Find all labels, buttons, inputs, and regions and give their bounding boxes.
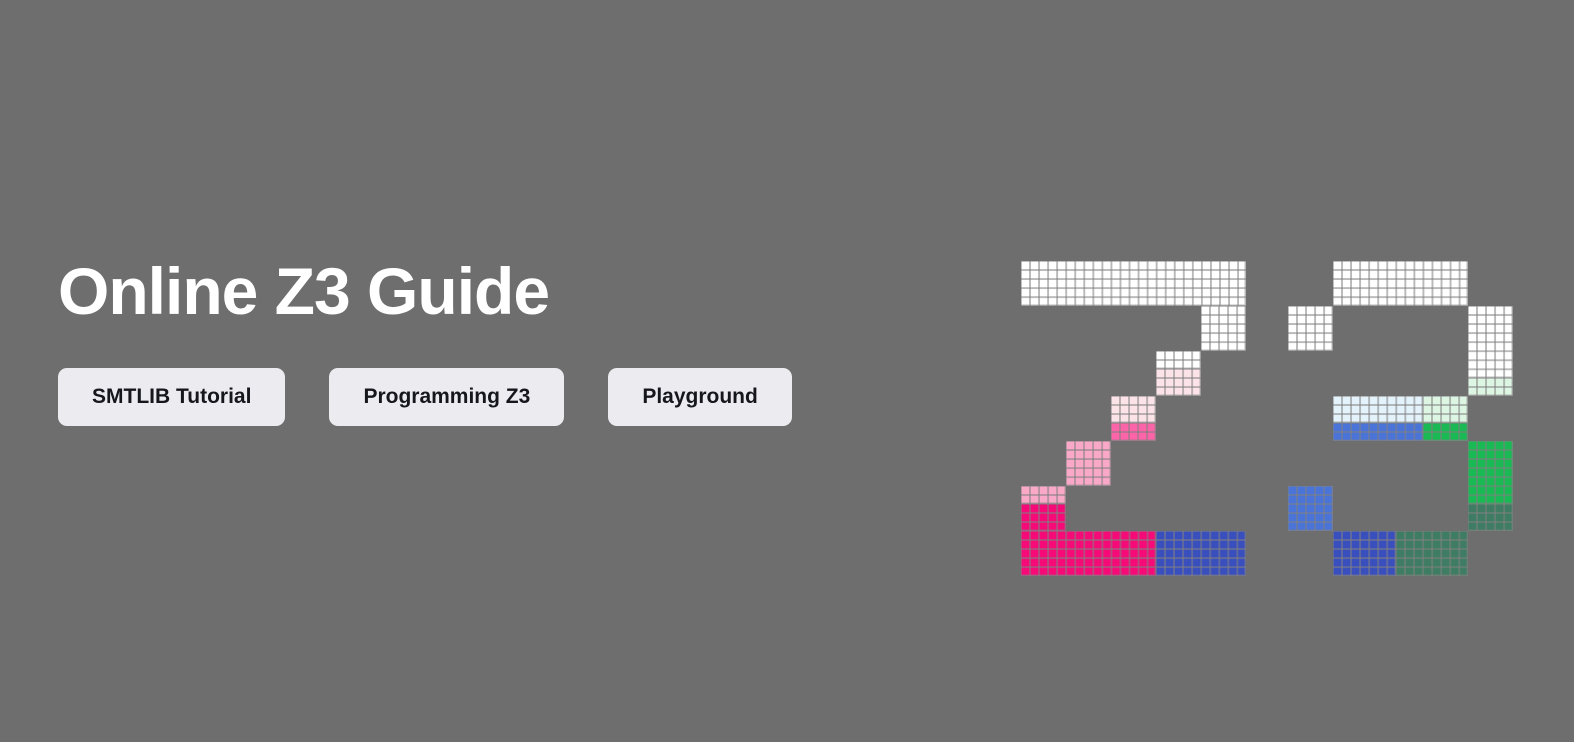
logo-pixel-block [1468,306,1513,378]
logo-pixel-block [1333,261,1468,306]
logo-pixel-block [1021,261,1246,306]
logo-pixel-block [1396,531,1468,576]
nav-button-group: SMTLIB Tutorial Programming Z3 Playgroun… [58,368,958,426]
logo-pixel-block [1288,306,1333,351]
logo-pixel-block [1021,504,1066,531]
logo-pixel-block [1333,396,1423,423]
logo-pixel-block [1423,396,1468,423]
logo-pixel-block [1021,531,1156,576]
logo-pixel-block [1111,396,1156,423]
logo-pixel-block [1468,378,1513,396]
z3-pixel-logo [1021,261,1521,583]
logo-pixel-block [1288,486,1333,531]
logo-pixel-block [1156,369,1201,396]
logo-pixel-block [1156,531,1246,576]
logo-pixel-block [1111,423,1156,441]
logo-pixel-block [1333,423,1423,441]
logo-pixel-block [1333,531,1396,576]
logo-pixel-block [1156,351,1201,369]
logo-pixel-block [1468,504,1513,531]
logo-pixel-block [1021,486,1066,504]
logo-pixel-block [1066,441,1111,486]
smtlib-tutorial-button[interactable]: SMTLIB Tutorial [58,368,285,426]
logo-pixel-block [1201,306,1246,351]
programming-z3-button[interactable]: Programming Z3 [329,368,564,426]
logo-pixel-block [1423,423,1468,441]
hero-section: Online Z3 Guide SMTLIB Tutorial Programm… [58,258,958,426]
page-title: Online Z3 Guide [58,258,958,324]
logo-pixel-block [1468,441,1513,504]
playground-button[interactable]: Playground [608,368,792,426]
